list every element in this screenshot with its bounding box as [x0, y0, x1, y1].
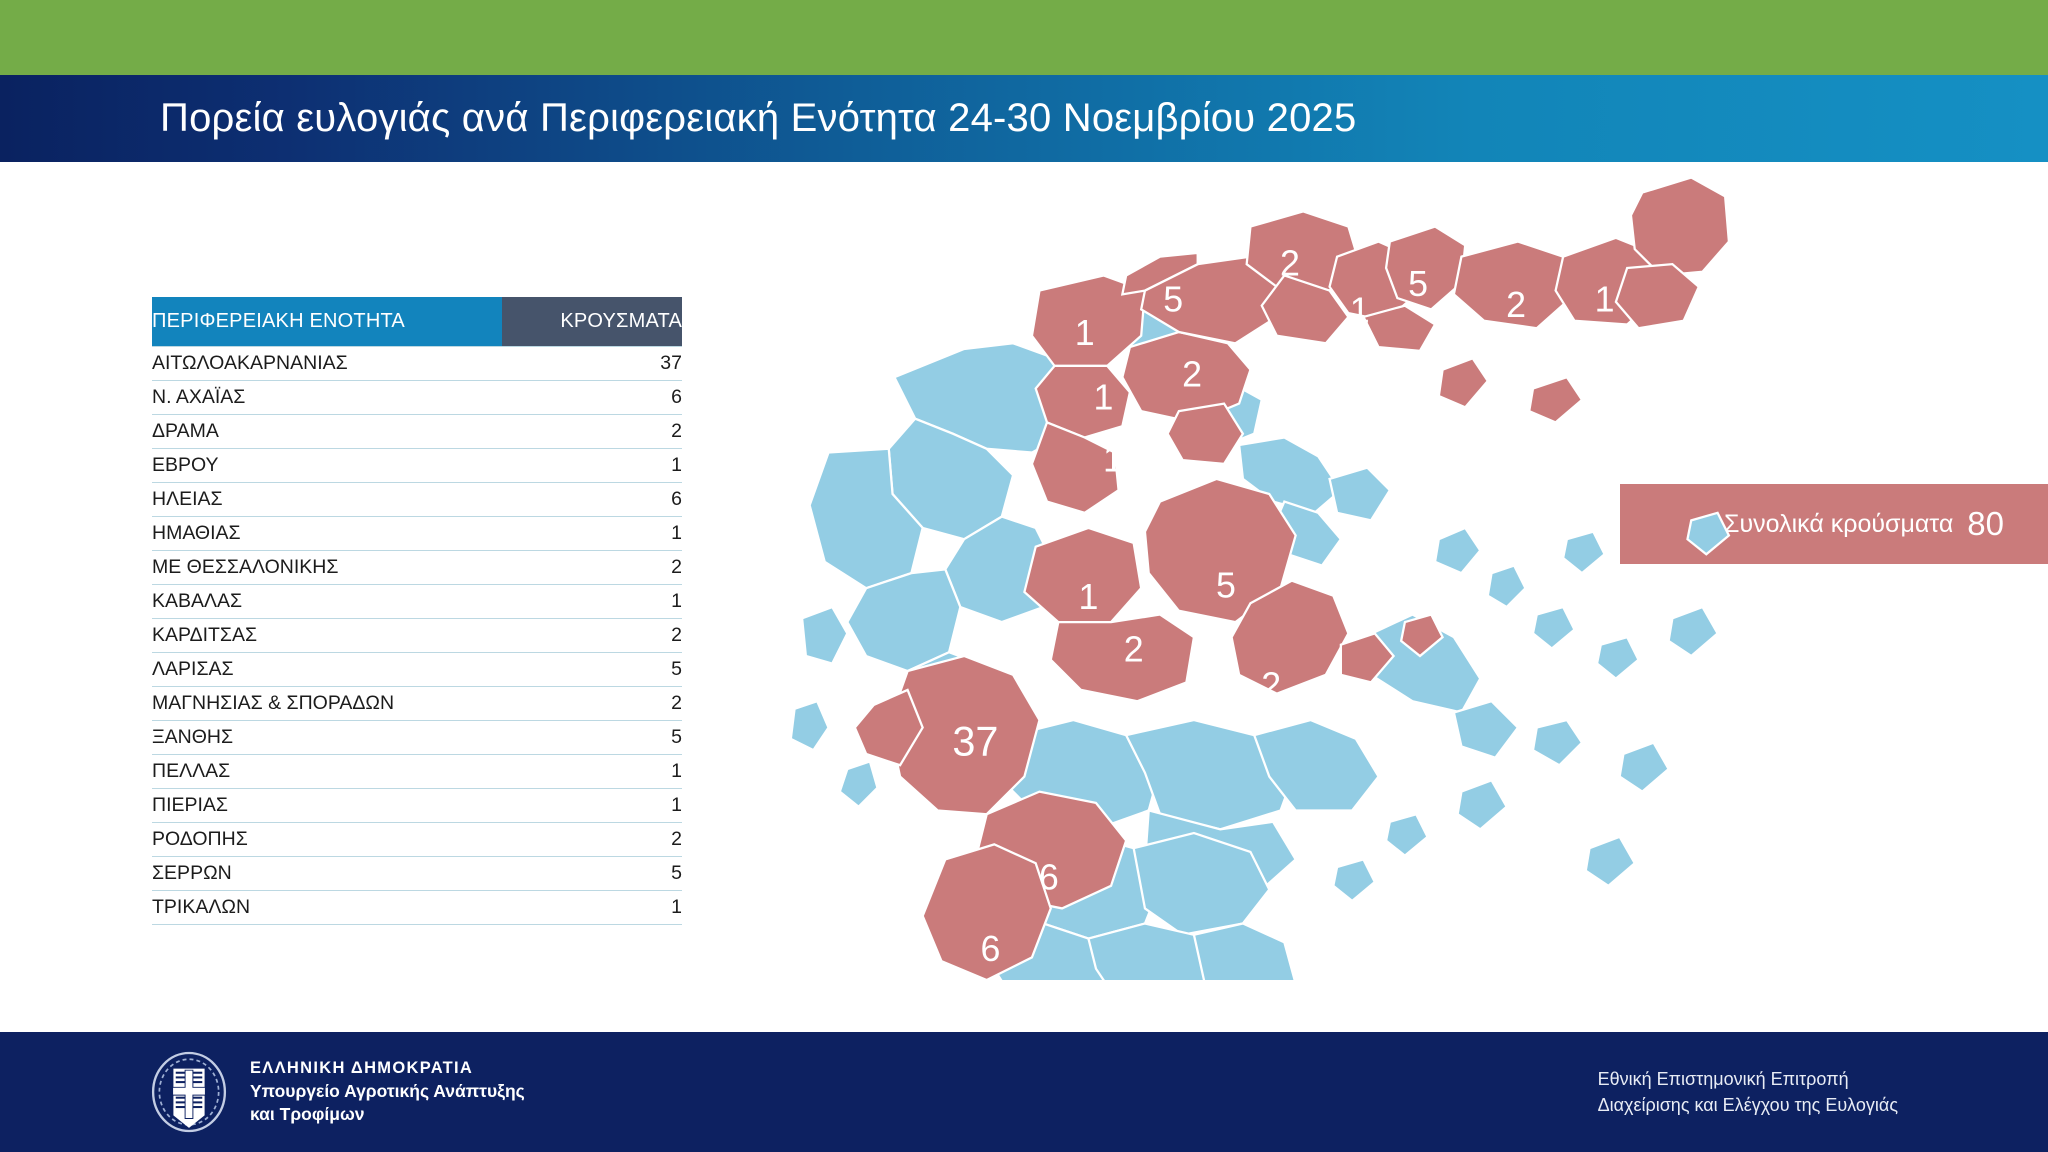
- table-row: ΜΑΓΝΗΣΙΑΣ & ΣΠΟΡΑΔΩΝ2: [152, 687, 682, 721]
- cell-count: 5: [502, 857, 682, 891]
- table-row: ΠΕΛΛΑΣ1: [152, 755, 682, 789]
- cell-region: ΡΟΔΟΠΗΣ: [152, 823, 502, 857]
- cell-region: ΑΙΤΩΛΟΑΚΑΡΝΑΝΙΑΣ: [152, 347, 502, 381]
- map-label-ΜΑΓΝΗΣΙΑΣ: 2: [1261, 665, 1281, 705]
- map-label-ΛΑΡΙΣΑΣ: 5: [1216, 566, 1236, 606]
- cell-region: ΠΙΕΡΙΑΣ: [152, 789, 502, 823]
- map-label-ΑΙΤΩΛΟΑΚΑΡΝΑΝΙΑΣ: 37: [952, 717, 998, 764]
- cell-region: ΠΕΛΛΑΣ: [152, 755, 502, 789]
- title-bar: Πορεία ευλογιάς ανά Περιφερειακή Ενότητα…: [0, 75, 2048, 162]
- map-label-ΡΟΔΟΠΗΣ: 1: [1595, 279, 1615, 319]
- map-label-ΔΡΑΜΑ: 1: [1350, 291, 1370, 331]
- cell-count: 6: [502, 483, 682, 517]
- table-row: ΡΟΔΟΠΗΣ2: [152, 823, 682, 857]
- cases-table: ΠΕΡΙΦΕΡΕΙΑΚΗ ΕΝΟΤΗΤΑ ΚΡΟΥΣΜΑΤΑ ΑΙΤΩΛΟΑΚΑ…: [152, 297, 682, 925]
- footer-bar: ΕΛΛΗΝΙΚΗ ΔΗΜΟΚΡΑΤΙΑ Υπουργείο Αγροτικής …: [0, 1032, 2048, 1152]
- cell-region: ΕΒΡΟΥ: [152, 449, 502, 483]
- table-row: ΔΡΑΜΑ2: [152, 415, 682, 449]
- table-row: ΛΑΡΙΣΑΣ5: [152, 653, 682, 687]
- cell-count: 2: [502, 687, 682, 721]
- cell-count: 1: [502, 755, 682, 789]
- cell-region: ΜΑΓΝΗΣΙΑΣ & ΣΠΟΡΑΔΩΝ: [152, 687, 502, 721]
- cell-region: ΚΑΒΑΛΑΣ: [152, 585, 502, 619]
- cell-region: ΣΕΡΡΩΝ: [152, 857, 502, 891]
- table-row: ΣΕΡΡΩΝ5: [152, 857, 682, 891]
- table-row: ΤΡΙΚΑΛΩΝ1: [152, 891, 682, 925]
- table-header-row: ΠΕΡΙΦΕΡΕΙΑΚΗ ΕΝΟΤΗΤΑ ΚΡΟΥΣΜΑΤΑ: [152, 297, 682, 347]
- cell-count: 37: [502, 347, 682, 381]
- map-label-ΗΜΑΘΙΑΣ: 1: [1094, 377, 1114, 417]
- map-label-ΠΕΛΛΑΣ: 1: [1075, 313, 1095, 353]
- cell-region: ΛΑΡΙΣΑΣ: [152, 653, 502, 687]
- cases-table-container: ΠΕΡΙΦΕΡΕΙΑΚΗ ΕΝΟΤΗΤΑ ΚΡΟΥΣΜΑΤΑ ΑΙΤΩΛΟΑΚΑ…: [152, 297, 682, 925]
- map-label-ΚΑΡΔΙΤΣΑΣ: 2: [1124, 630, 1144, 670]
- slide-root: Πορεία ευλογιάς ανά Περιφερειακή Ενότητα…: [0, 0, 2048, 1152]
- table-row: ΚΑΒΑΛΑΣ1: [152, 585, 682, 619]
- cell-count: 2: [502, 551, 682, 585]
- table-row: ΗΛΕΙΑΣ6: [152, 483, 682, 517]
- ministry-line-2: Υπουργείο Αγροτικής Ανάπτυξης: [250, 1080, 525, 1103]
- ministry-line-3: και Τροφίμων: [250, 1103, 525, 1126]
- map-label-ΣΕΡΡΩΝ: 5: [1163, 279, 1183, 319]
- map-label-ΠΙΕΡΙΑΣ: 1: [1103, 439, 1123, 479]
- table-body: ΑΙΤΩΛΟΑΚΑΡΝΑΝΙΑΣ37Ν. ΑΧΑΪΑΣ6ΔΡΑΜΑ2ΕΒΡΟΥ1…: [152, 347, 682, 925]
- column-header-count: ΚΡΟΥΣΜΑΤΑ: [502, 297, 682, 347]
- cell-count: 1: [502, 789, 682, 823]
- cell-count: 1: [502, 585, 682, 619]
- page-title: Πορεία ευλογιάς ανά Περιφερειακή Ενότητα…: [160, 96, 1356, 141]
- ministry-identity: ΕΛΛΗΝΙΚΗ ΔΗΜΟΚΡΑΤΙΑ Υπουργείο Αγροτικής …: [150, 1051, 525, 1133]
- table-row: ΚΑΡΔΙΤΣΑΣ2: [152, 619, 682, 653]
- cell-count: 5: [502, 653, 682, 687]
- table-row: ΜΕ ΘΕΣΣΑΛΟΝΙΚΗΣ2: [152, 551, 682, 585]
- column-header-region: ΠΕΡΙΦΕΡΕΙΑΚΗ ΕΝΟΤΗΤΑ: [152, 297, 502, 347]
- cell-region: ΚΑΡΔΙΤΣΑΣ: [152, 619, 502, 653]
- committee-line-2: Διαχείρισης και Ελέγχου της Ευλογιάς: [1598, 1092, 1898, 1118]
- cell-count: 1: [502, 891, 682, 925]
- map-label-ΗΛΕΙΑΣ: 6: [981, 929, 1001, 969]
- table-head: ΠΕΡΙΦΕΡΕΙΑΚΗ ΕΝΟΤΗΤΑ ΚΡΟΥΣΜΑΤΑ: [152, 297, 682, 347]
- table-row: Ν. ΑΧΑΪΑΣ6: [152, 381, 682, 415]
- map-label-ΞΑΝΘΗΣ: 2: [1506, 285, 1526, 325]
- table-row: ΕΒΡΟΥ1: [152, 449, 682, 483]
- cell-region: ΜΕ ΘΕΣΣΑΛΟΝΙΚΗΣ: [152, 551, 502, 585]
- cell-count: 1: [502, 449, 682, 483]
- cell-count: 5: [502, 721, 682, 755]
- hellenic-republic-crest-icon: [150, 1051, 228, 1133]
- greece-choropleth-map: 521521112115223766: [760, 170, 1820, 980]
- ministry-text: ΕΛΛΗΝΙΚΗ ΔΗΜΟΚΡΑΤΙΑ Υπουργείο Αγροτικής …: [250, 1058, 525, 1126]
- cell-region: ΗΜΑΘΙΑΣ: [152, 517, 502, 551]
- cell-count: 1: [502, 517, 682, 551]
- cell-count: 2: [502, 619, 682, 653]
- table-row: ΞΑΝΘΗΣ5: [152, 721, 682, 755]
- map-label-Ν. ΑΧΑΪΑΣ: 6: [1039, 858, 1059, 898]
- cell-region: ΞΑΝΘΗΣ: [152, 721, 502, 755]
- table-row: ΑΙΤΩΛΟΑΚΑΡΝΑΝΙΑΣ37: [152, 347, 682, 381]
- cell-region: Ν. ΑΧΑΪΑΣ: [152, 381, 502, 415]
- table-row: ΠΙΕΡΙΑΣ1: [152, 789, 682, 823]
- committee-line-1: Εθνική Επιστημονική Επιτροπή: [1598, 1066, 1898, 1092]
- cell-region: ΔΡΑΜΑ: [152, 415, 502, 449]
- cell-region: ΤΡΙΚΑΛΩΝ: [152, 891, 502, 925]
- ministry-line-1: ΕΛΛΗΝΙΚΗ ΔΗΜΟΚΡΑΤΙΑ: [250, 1058, 525, 1080]
- committee-text: Εθνική Επιστημονική Επιτροπή Διαχείρισης…: [1598, 1066, 1898, 1118]
- map-label-ΚΑΒΑΛΑΣ: 5: [1408, 264, 1428, 304]
- table-row: ΗΜΑΘΙΑΣ1: [152, 517, 682, 551]
- map-label-ΤΡΙΚΑΛΩΝ: 1: [1078, 577, 1098, 617]
- cell-count: 6: [502, 381, 682, 415]
- map-label-ΘΕΣΣΑΛΟΝΙΚΗΣ: 2: [1280, 244, 1300, 284]
- total-cases-value: 80: [1967, 505, 2004, 543]
- cell-count: 2: [502, 823, 682, 857]
- top-green-band: [0, 0, 2048, 75]
- map-label-ΜΕ ΘΕΣΣΑΛΟΝΙΚΗΣ: 2: [1182, 355, 1202, 395]
- cell-count: 2: [502, 415, 682, 449]
- cell-region: ΗΛΕΙΑΣ: [152, 483, 502, 517]
